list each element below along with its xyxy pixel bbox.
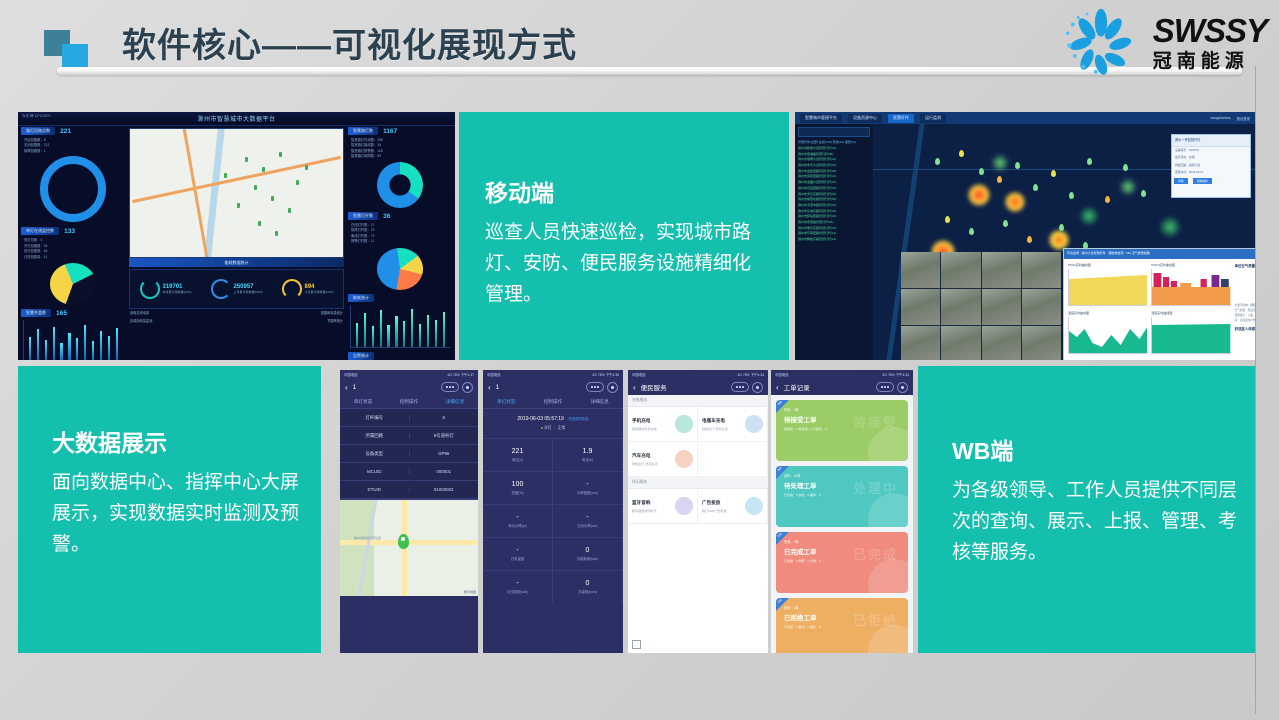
phone-root: 中国电信 4G 76% 下午4:37 ‹ 1 单灯状态 控制操作 详细信息 灯杆…: [340, 370, 478, 653]
cctv-tile[interactable]: [982, 289, 1021, 325]
table-row: MCUID000001: [340, 463, 478, 481]
panel-bigdata-body: 面向数据中心、指挥中心大屏展示，实现数据实时监测及预警。: [52, 468, 314, 560]
gis-user[interactable]: wangxiaohua: [1210, 116, 1230, 120]
wo-count: 完成：1单: [784, 407, 900, 412]
gis-tree-list[interactable]: 滁州市政通大道智慧灯杆(12) 滁州市南谯路智慧灯杆(08) 滁州市琅琊大道智慧…: [798, 146, 870, 243]
cctv-tile[interactable]: [901, 252, 940, 288]
env-window-title: 环境监测 · 滁州大道智慧杆件 · 颗粒物监测 · 152 空气质量指数: [1064, 249, 1255, 259]
battery-time-label: 4G 76% 下午4:36: [592, 372, 619, 377]
gis-popup[interactable]: 滁州一号智慧杆件 设备编号：NZ0001 运行状态：在线 所属回路：政通大道 安…: [1171, 134, 1251, 198]
gis-topbar: 智慧城市管理平台 设备资源中心 智慧杆件 运行监测 wangxiaohua 退出…: [795, 112, 1255, 124]
table-row: 所属回路8号道杆灯: [340, 427, 478, 445]
metric-cell: 0月能耗用(kwh): [553, 537, 623, 570]
carrier-label: 中国电信: [487, 372, 501, 377]
service-grid-charging: 手机充电 随时随地手机充电 电瓶车充电 绿色出行 智享生活 汽车充电 绿色出行 …: [628, 407, 768, 477]
tab-detail[interactable]: 详细信息: [432, 399, 478, 405]
phone-charge-icon: [675, 415, 693, 433]
service-item-empty: [698, 442, 768, 477]
phone-tabs[interactable]: 单灯状态 控制操作 详细信息: [483, 395, 623, 409]
cctv-tile[interactable]: [941, 326, 980, 360]
cctv-tile[interactable]: [941, 289, 980, 325]
tab-control[interactable]: 控制操作: [530, 399, 577, 405]
carrier-label: 中国电信: [775, 372, 789, 377]
aqi-title: 单位空气质量指数（AQI）: [1235, 263, 1255, 268]
pie-chart: [50, 263, 96, 305]
tab-lamp-status[interactable]: 单灯状态: [483, 399, 530, 405]
phone-navbar: ‹ 便民服务: [628, 379, 768, 395]
wo-count: 用时：10单: [784, 473, 900, 478]
gis-root: 智慧城市管理平台 设备资源中心 智慧杆件 运行监测 wangxiaohua 退出…: [795, 112, 1255, 360]
status-timestamp-row: 2019-06-03 05:57:19 在线实时状态: [483, 409, 623, 426]
pm10-chart: [1068, 269, 1147, 306]
section-label-leisure: 休闲服务: [628, 477, 768, 489]
cctv-tile[interactable]: [982, 252, 1021, 288]
pm25-chart: [1151, 269, 1230, 306]
list-item[interactable]: 滁州市解放东路智慧灯杆(11): [798, 237, 870, 243]
target-icon[interactable]: [897, 382, 908, 393]
logo-subtitle: 冠南能源: [1153, 52, 1267, 71]
cctv-tile[interactable]: [1022, 252, 1061, 288]
more-menu-icon[interactable]: [731, 382, 749, 392]
kpi-ring-icon: [211, 279, 231, 299]
wo-sub: 已接收：0 未处：0 超时：0: [784, 493, 900, 497]
popup-title: 滁州一号智慧杆件: [1172, 135, 1250, 147]
cctv-tile[interactable]: [901, 289, 940, 325]
phone-map[interactable]: 滁州市智慧灯杆位置 腾讯地图: [340, 499, 478, 596]
kpi-strip: 319701 本月累计用电量(kWh) 250957 上月累计用电量(kWh) …: [129, 269, 344, 309]
location-pin-icon: [398, 534, 409, 549]
card-tag: 单灯在线监控数: [21, 227, 59, 235]
dashboard-card: 路灯回路总数 221 开启回路数：8 关闭回路数：212 故障回路数：1: [21, 127, 125, 222]
wo-count: 完成：1单: [784, 539, 900, 544]
table-row: 区域用电量监测 节能率统计: [130, 318, 343, 326]
dashboard-card: 智慧灯杆数 36 在线灯杆数：11 故障灯杆数：23 离线灯杆数：72 报警灯杆…: [348, 212, 452, 290]
gis-tree-title: 智慧杆件(全部) 在线(128) 离线(34) 报警(11): [798, 140, 870, 144]
target-icon[interactable]: [607, 382, 618, 393]
wo-sub: 处理中：0 未处理：0 已超时：0: [784, 427, 900, 431]
card-tag: 智慧路灯数: [348, 127, 378, 135]
target-icon[interactable]: [462, 382, 473, 393]
card-lines: 开启回路数：8 关闭回路数：212 故障回路数：1: [24, 138, 125, 154]
service-grid-leisure: 蓝牙音响 畅享温馨休闲时光 广告投放 路灯LED广告投放: [628, 489, 768, 524]
phone-tabs[interactable]: 单灯状态 控制操作 详细信息: [340, 395, 478, 409]
bar-chart: [350, 305, 450, 348]
gis-map[interactable]: 滁州一号智慧杆件 设备编号：NZ0001 运行状态：在线 所属回路：政通大道 安…: [873, 124, 1255, 360]
dashboard-right-column: 智慧路灯数 1167 智慧路灯在线数：256 智慧路灯离线数：34 智慧路灯报警…: [348, 127, 452, 357]
phone-statusbar: 中国电信 4G 76% 下午4:34: [628, 370, 768, 379]
kpi-ring-icon: [282, 279, 302, 299]
cctv-tile[interactable]: [941, 252, 980, 288]
carrier-label: 中国电信: [632, 372, 646, 377]
temperature-chart: [1068, 317, 1147, 354]
back-chevron-icon[interactable]: ‹: [633, 383, 636, 392]
wo-sub: 已验收：0 审核：0 归档：0: [784, 559, 900, 563]
lamp-state-row: ● 开灯 ｜ 正常: [483, 426, 623, 438]
kpi-item: 894 今日累计用电量(kWh): [282, 279, 334, 299]
carrier-label: 中国电信: [344, 372, 358, 377]
battery-time-label: 4G 76% 下午4:34: [882, 372, 909, 377]
dashboard-center: 能耗数据统计 319701 本月累计用电量(kWh) 250957 上月累计用电…: [128, 127, 345, 357]
back-chevron-icon[interactable]: ‹: [488, 383, 491, 392]
dashboard-card: 智慧路灯数 1167 智慧路灯在线数：256 智慧路灯离线数：34 智慧路灯报警…: [348, 127, 452, 208]
service-item[interactable]: 蓝牙音响 畅享温馨休闲时光: [628, 489, 698, 524]
kpi-item: 319701 本月累计用电量(kWh): [140, 279, 192, 299]
comfort-title: 舒适度人体感受指数: [1235, 326, 1255, 331]
cctv-tile[interactable]: [1022, 289, 1061, 325]
nav-title: 便民服务: [641, 382, 667, 392]
service-item[interactable]: 广告投放 路灯LED广告投放: [698, 489, 768, 524]
work-order-card[interactable]: 待接 待接受 完成：1单 待接受工单 处理中：0 未处理：0 已超时：0: [776, 400, 908, 461]
card-value: 36: [383, 213, 390, 220]
phone-statusbar: 中国电信 4G 76% 下午4:36: [483, 370, 623, 379]
metric-grid: 221电压(V) 1.9电流(A) 100亮度(%) -功率因数(cos) -有…: [483, 438, 623, 603]
metric-cell: 0总能耗(kwh): [553, 570, 623, 603]
nav-title: 1: [496, 384, 500, 391]
card-lines: 在线灯杆数：11 故障灯杆数：23 离线灯杆数：72 报警灯杆数：11: [351, 223, 452, 245]
work-order-card[interactable]: 已完 已完成 完成：1单 已完成工单 已验收：0 审核：0 归档：0: [776, 532, 908, 593]
kpi-label: 上月累计用电量(kWh): [234, 290, 263, 294]
card-tag: 智慧灯杆数: [348, 212, 378, 220]
panel-mobile-title: 移动端: [485, 174, 761, 208]
more-menu-icon[interactable]: [441, 382, 459, 392]
map-label: 滁州市智慧灯杆位置: [354, 536, 381, 540]
panel-wb: WB端 为各级领导、工作人员提供不同层次的查询、展示、上报、管理、考核等服务。: [918, 366, 1255, 653]
popup-row: 设备编号：NZ0001: [1172, 147, 1250, 154]
service-item[interactable]: 汽车充电 绿色出行 智享生活: [628, 442, 698, 477]
screenshot-phone-lamp-detail: 中国电信 4G 76% 下午4:37 ‹ 1 单灯状态 控制操作 详细信息 灯杆…: [340, 370, 478, 653]
popup-detail-button[interactable]: 详情: [1174, 178, 1188, 184]
cctv-tile[interactable]: [982, 326, 1021, 360]
popup-row: 所属回路：政通大道: [1172, 162, 1250, 169]
battery-time-label: 4G 76% 下午4:37: [447, 372, 474, 377]
screenshot-gis-platform: 智慧城市管理平台 设备资源中心 智慧杆件 运行监测 wangxiaohua 退出…: [795, 112, 1255, 360]
donut-chart: [40, 156, 106, 222]
tab-control[interactable]: 控制操作: [386, 399, 432, 405]
dashboard-card: 单灯在线监控数 133 亮灯总数：4 开灯回路数：54 熄灯回路数：64 已巡检…: [21, 227, 125, 305]
kpi-item: 250957 上月累计用电量(kWh): [211, 279, 263, 299]
metric-cell: -无功功率(var): [553, 504, 623, 537]
table-row: 用电总用电量 回路用电量统计: [130, 310, 343, 318]
dashboard-topbar: 今天 晴 12℃/23℃ 滁州市智慧城市大数据平台: [18, 112, 455, 126]
wo-count: 拒绝：1单: [784, 605, 900, 610]
back-chevron-icon[interactable]: ‹: [776, 383, 779, 392]
dashboard-left-column: 路灯回路总数 221 开启回路数：8 关闭回路数：212 故障回路数：1 单灯在…: [21, 127, 125, 357]
metric-cell: -有功功率(w): [483, 504, 553, 537]
env-monitor-window[interactable]: 环境监测 · 滁州大道智慧杆件 · 颗粒物监测 · 152 空气质量指数 PM1…: [1063, 248, 1255, 360]
popup-row: 安装时间：2019-03-12: [1172, 169, 1250, 176]
card-value: 1167: [383, 128, 397, 135]
bluetooth-speaker-icon: [675, 497, 693, 515]
card-tag: 告警统计: [348, 352, 374, 360]
card-tag: 智慧井盖数: [21, 309, 51, 317]
map-banner: 能耗数据统计: [129, 258, 344, 267]
card-tag: 路灯回路总数: [21, 127, 55, 135]
dashboard-root: 今天 晴 12℃/23℃ 滁州市智慧城市大数据平台 路灯回路总数 221 开启回…: [18, 112, 455, 360]
pie-chart: [377, 248, 423, 290]
aqi-note: 温馨提示：儿童、老年人及心脏病、呼吸系统疾病患者应减少长时间、高强度的户外锻炼，…: [1235, 314, 1255, 324]
metric-cell: 1.9电流(A): [553, 438, 623, 471]
city-map: [129, 128, 344, 258]
gis-tree-sidebar: 智慧杆件(全部) 在线(128) 离线(34) 报警(11) 滁州市政通大道智慧…: [795, 124, 874, 360]
dashboard-card: 能耗统计: [348, 294, 452, 348]
gis-search-input[interactable]: [798, 127, 870, 137]
work-order-card[interactable]: 待处 处理中 用时：10单 待处理工单 已接收：0 未处：0 超时：0: [776, 466, 908, 527]
metric-cell: -日电量度: [483, 537, 553, 570]
panel-bigdata: 大数据展示 面向数据中心、指挥中心大屏展示，实现数据实时监测及预警。: [18, 366, 321, 653]
chart-title: 湿度实时曲线图: [1151, 311, 1230, 315]
phone-statusbar: 中国电信 4G 76% 下午4:37: [340, 370, 478, 379]
screenshot-bigdata-dashboard: 今天 晴 12℃/23℃ 滁州市智慧城市大数据平台 路灯回路总数 221 开启回…: [18, 112, 455, 360]
slide-header: 软件核心——可视化展现方式 SWSSY 冠南能源: [0, 0, 1279, 92]
detail-table: 灯杆编号8 所属回路8号道杆灯 设备类型GP95 MCUID000001 DTU…: [340, 409, 478, 499]
metric-cell: 221电压(V): [483, 438, 553, 471]
nav-title: 1: [353, 384, 357, 391]
tab-lamp-status[interactable]: 单灯状态: [340, 399, 386, 405]
company-logo: SWSSY 冠南能源: [1057, 6, 1267, 78]
map-attribution: 腾讯地图: [464, 590, 476, 594]
screenshot-phone-lamp-status: 中国电信 4G 76% 下午4:36 ‹ 1 单灯状态 控制操作 详细信息 20…: [483, 370, 623, 653]
ad-screen-icon: [745, 497, 763, 515]
card-tag: 能耗统计: [348, 294, 374, 302]
dashboard-card: 告警统计: [348, 352, 452, 361]
gis-tab-0[interactable]: 智慧城市管理平台: [800, 114, 842, 123]
humidity-chart: [1151, 317, 1230, 354]
cctv-grid[interactable]: [901, 252, 1061, 360]
phone-root: 中国电信 4G 76% 下午4:34 ‹ 工单记录 待接 待接受 完成：1单 待…: [771, 370, 913, 653]
service-item[interactable]: 电瓶车充电 绿色出行 智享生活: [698, 407, 768, 442]
card-value: 165: [56, 310, 67, 317]
dashboard-title: 滁州市智慧城市大数据平台: [18, 114, 455, 123]
screenshot-phone-public-services: 中国电信 4G 76% 下午4:34 ‹ 便民服务 充电服务 手机充电 随时随地…: [628, 370, 768, 653]
metric-cell: 100亮度(%): [483, 471, 553, 504]
timestamp: 2019-06-03 05:57:19: [517, 416, 563, 422]
bar-chart: [23, 320, 123, 360]
kpi-label: 今日累计用电量(kWh): [305, 290, 334, 294]
card-lines: 智慧路灯在线数：256 智慧路灯离线数：34 智慧路灯报警数：118 智慧路灯故…: [351, 138, 452, 160]
service-item[interactable]: 手机充电 随时随地手机充电: [628, 407, 698, 442]
panel-wb-title: WB端: [952, 432, 1248, 466]
metric-cell: -功率因数(cos): [553, 471, 623, 504]
card-lines: 亮灯总数：4 开灯回路数：54 熄灯回路数：64 已巡检数量：11: [24, 238, 125, 260]
gis-logout[interactable]: 退出登录: [1236, 116, 1250, 121]
more-menu-icon[interactable]: [586, 382, 604, 392]
card-value: 133: [64, 228, 75, 235]
realtime-link[interactable]: 在线实时状态: [568, 417, 588, 421]
gis-tab-1[interactable]: 设备资源中心: [848, 114, 882, 123]
phone-navbar: ‹ 1: [340, 379, 478, 395]
panel-wb-body: 为各级领导、工作人员提供不同层次的查询、展示、上报、管理、考核等服务。: [952, 476, 1248, 568]
phone-navbar: ‹ 工单记录: [771, 379, 913, 395]
section-label-charging: 充电服务: [628, 395, 768, 407]
gis-tab-3[interactable]: 运行监测: [920, 114, 946, 123]
battery-time-label: 4G 76% 下午4:34: [737, 372, 764, 377]
page-title: 软件核心——可视化展现方式: [122, 18, 577, 67]
kpi-table: 用电总用电量 回路用电量统计 区域用电量监测 节能率统计: [130, 310, 343, 325]
car-charge-icon: [675, 450, 693, 468]
ebike-charge-icon: [745, 415, 763, 433]
phone-navbar: ‹ 1: [483, 379, 623, 395]
work-order-card[interactable]: 已拒 已拒绝 拒绝：1单 已拒绝工单 已驳回：0 重派：0 超时：0: [776, 598, 908, 653]
chart-title: PM10实时曲线图: [1068, 263, 1147, 267]
more-menu-icon[interactable]: [876, 382, 894, 392]
right-guide-line: [1255, 66, 1256, 714]
logo-text: SWSSY 冠南能源: [1153, 14, 1267, 71]
card-value: 221: [60, 128, 71, 135]
nav-title: 工单记录: [784, 382, 810, 392]
tab-detail[interactable]: 详细信息: [576, 399, 623, 405]
target-icon[interactable]: [752, 382, 763, 393]
back-chevron-icon[interactable]: ‹: [345, 383, 348, 392]
gis-tab-2[interactable]: 智慧杆件: [888, 114, 914, 123]
phone-statusbar: 中国电信 4G 76% 下午4:34: [771, 370, 913, 379]
home-indicator-icon: [632, 640, 641, 649]
panel-bigdata-title: 大数据展示: [52, 424, 314, 458]
table-row: DTUID81000002: [340, 481, 478, 499]
panel-mobile-body: 巡查人员快速巡检，实现城市路灯、安防、便民服务设施精细化管理。: [485, 218, 761, 310]
screenshot-phone-work-orders: 中国电信 4G 76% 下午4:34 ‹ 工单记录 待接 待接受 完成：1单 待…: [771, 370, 913, 653]
popup-control-button[interactable]: 控制操作: [1193, 178, 1212, 184]
cctv-tile[interactable]: [1022, 326, 1061, 360]
dashboard-card: 智慧井盖数 165: [21, 309, 125, 360]
table-row: 灯杆编号8: [340, 409, 478, 427]
donut-chart: [377, 162, 423, 208]
phone-root: 中国电信 4G 76% 下午4:36 ‹ 1 单灯状态 控制操作 详细信息 20…: [483, 370, 623, 653]
popup-row: 运行状态：在线: [1172, 154, 1250, 161]
chart-title: 温度实时曲线图: [1068, 311, 1147, 315]
panel-mobile: 移动端 巡查人员快速巡检，实现城市路灯、安防、便民服务设施精细化管理。: [459, 112, 789, 360]
kpi-ring-icon: [140, 279, 160, 299]
wo-sub: 已驳回：0 重派：0 超时：0: [784, 625, 900, 629]
water-droplet-flower-icon: [1057, 7, 1145, 77]
logo-brand: SWSSY: [1153, 14, 1267, 47]
chart-title: PM2.5实时曲线图: [1151, 263, 1230, 267]
table-row: 设备类型GP95: [340, 445, 478, 463]
cctv-tile[interactable]: [901, 326, 940, 360]
metric-cell: -今日能耗(kwh): [483, 570, 553, 603]
kpi-label: 本月累计用电量(kWh): [163, 290, 192, 294]
phone-root: 中国电信 4G 76% 下午4:34 ‹ 便民服务 充电服务 手机充电 随时随地…: [628, 370, 768, 653]
